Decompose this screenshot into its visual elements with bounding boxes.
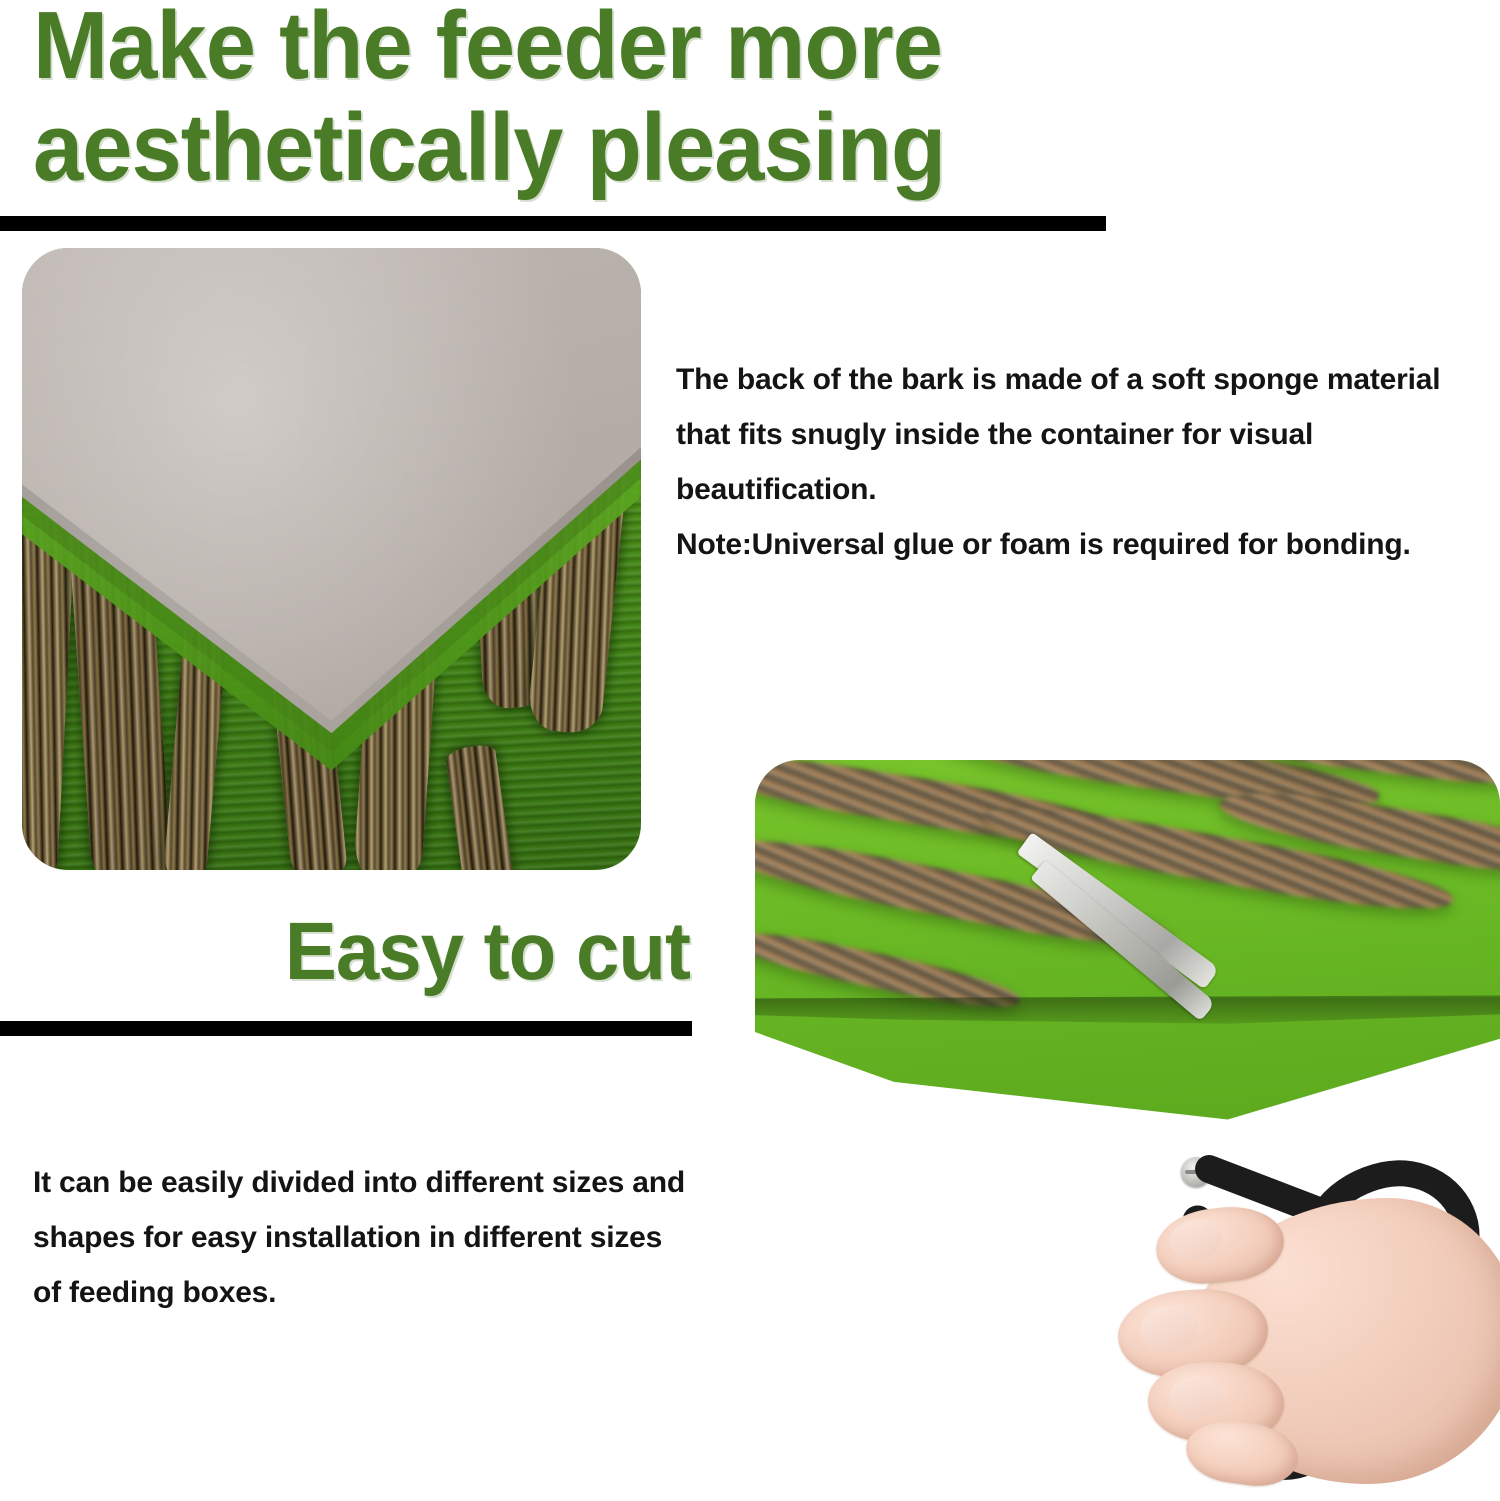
description-line: The back of the bark is made of a soft s… bbox=[676, 352, 1496, 407]
easy-to-cut-divider-rule bbox=[0, 1021, 692, 1036]
description-line: It can be easily divided into different … bbox=[33, 1155, 763, 1210]
easy-to-cut-description-text: It can be easily divided into different … bbox=[33, 1155, 763, 1320]
product-photo-cutting bbox=[755, 760, 1500, 1180]
description-line: beautification. bbox=[676, 462, 1496, 517]
product-photo-sponge-back bbox=[22, 248, 641, 870]
description-note-line: Note:Universal glue or foam is required … bbox=[676, 517, 1496, 572]
description-line: of feeding boxes. bbox=[33, 1265, 763, 1320]
page-headline-line-2: aesthetically pleasing bbox=[33, 96, 945, 200]
hand-holding-scissors bbox=[1130, 1170, 1500, 1486]
sponge-description-text: The back of the bark is made of a soft s… bbox=[676, 352, 1496, 572]
section-heading-easy-to-cut: Easy to cut bbox=[35, 907, 691, 997]
page-headline-line-1: Make the feeder more bbox=[33, 0, 942, 98]
description-line: shapes for easy installation in differen… bbox=[33, 1210, 763, 1265]
description-line: that fits snugly inside the container fo… bbox=[676, 407, 1496, 462]
headline-divider-rule bbox=[0, 216, 1106, 231]
